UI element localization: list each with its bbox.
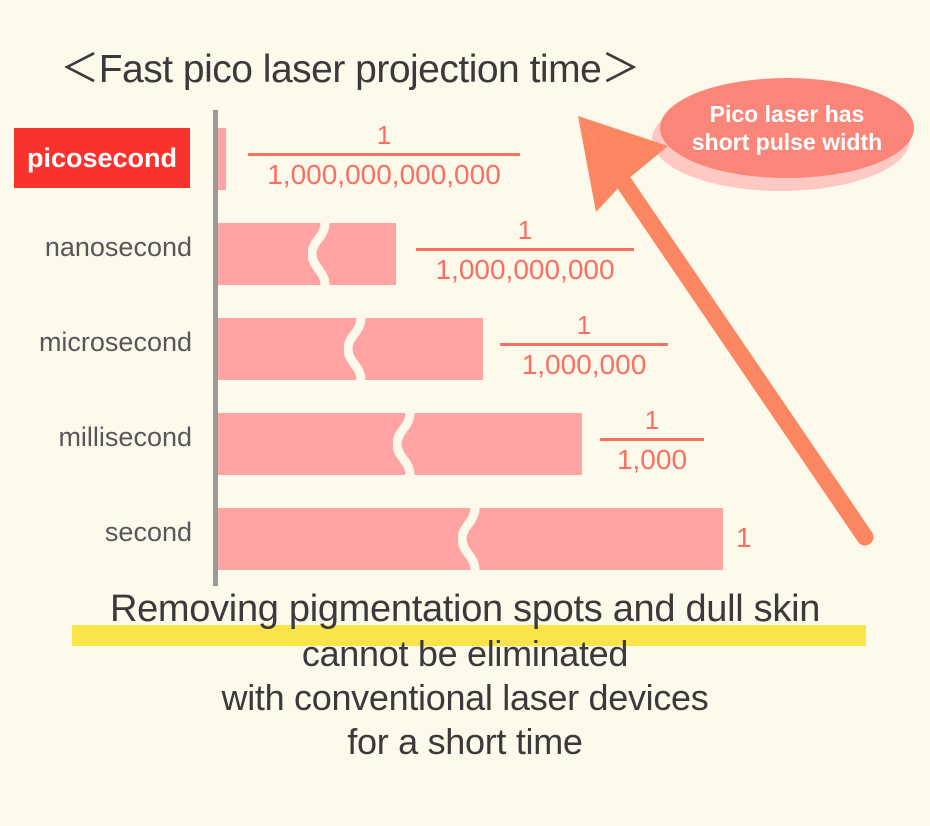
fraction-numerator: 1 (248, 122, 520, 151)
bar-millisecond (218, 413, 582, 475)
page-title: ＜Fast pico laser projection time＞ (0, 38, 700, 94)
caption-line: Removing pigmentation spots and dull ski… (0, 586, 930, 632)
row-label-nanosecond: nanosecond (45, 232, 192, 263)
row-label-microsecond: microsecond (39, 327, 192, 358)
caption-line: with conventional laser devices (0, 676, 930, 720)
pointer-arrow-icon (560, 100, 890, 560)
bar-nanosecond (218, 223, 396, 285)
caption-block: Removing pigmentation spots and dull ski… (0, 586, 930, 764)
caption-line: for a short time (0, 720, 930, 764)
fraction-denominator: 1,000,000,000,000 (248, 160, 520, 189)
infographic-canvas: ＜Fast pico laser projection time＞ picose… (0, 0, 930, 826)
bar-microsecond (218, 318, 483, 380)
row-label-picosecond: picosecond (14, 128, 190, 188)
row-label-second: second (105, 517, 192, 548)
bar-picosecond (218, 128, 226, 190)
value-fraction-picosecond: 11,000,000,000,000 (248, 122, 520, 190)
row-label-millisecond: millisecond (58, 422, 192, 453)
fraction-rule (248, 153, 520, 156)
caption-line: cannot be eliminated (0, 632, 930, 676)
